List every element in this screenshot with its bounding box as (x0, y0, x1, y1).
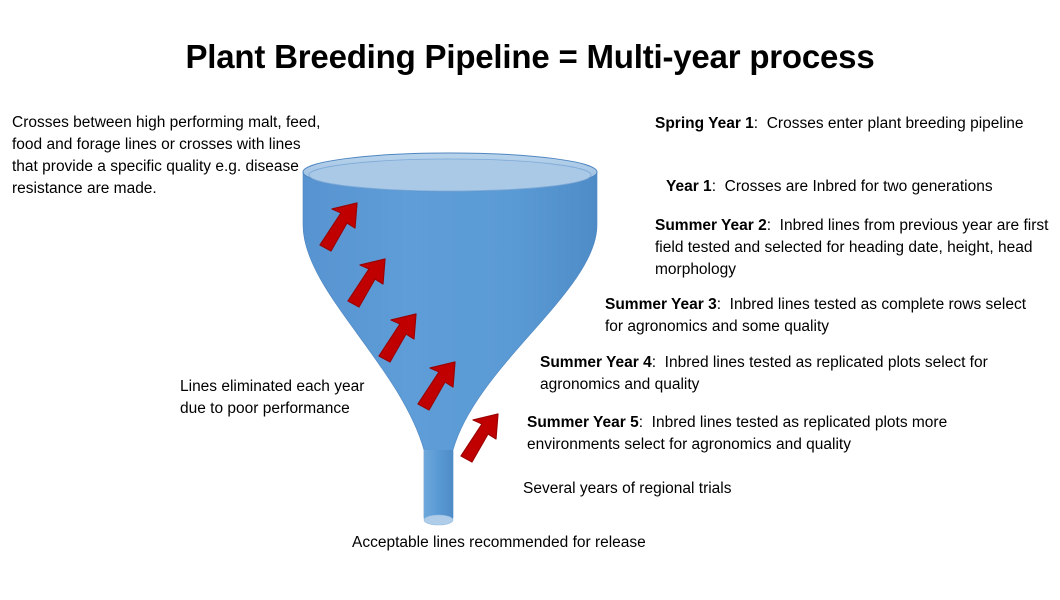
stage-text: Crosses are Inbred for two generations (725, 178, 993, 195)
funnel-spout-opening (424, 515, 453, 525)
stage-label: Summer Year 4 (540, 354, 652, 371)
page-title: Plant Breeding Pipeline = Multi-year pro… (0, 38, 1060, 76)
acceptable-lines-label: Acceptable lines recommended for release (352, 532, 652, 554)
stage-separator: : (712, 178, 716, 195)
stage-label: Year 1 (666, 178, 712, 195)
stage-text: Crosses enter plant breeding pipeline (767, 115, 1024, 132)
funnel-body (303, 172, 597, 520)
stage-label: Summer Year 2 (655, 217, 767, 234)
stage-separator: : (717, 296, 721, 313)
stage-label: Summer Year 5 (527, 414, 639, 431)
stage-label: Spring Year 1 (655, 115, 754, 132)
stage-summer-year-5: Summer Year 5: Inbred lines tested as re… (527, 412, 1017, 456)
lines-eliminated-label: Lines eliminated each year due to poor p… (180, 376, 370, 420)
elimination-arrow-5 (461, 414, 498, 462)
stage-label: Summer Year 3 (605, 296, 717, 313)
slide-canvas: Plant Breeding Pipeline = Multi-year pro… (0, 0, 1060, 600)
stage-summer-year-4: Summer Year 4: Inbred lines tested as re… (540, 352, 1010, 396)
crosses-description: Crosses between high performing malt, fe… (12, 112, 324, 200)
funnel-opening (309, 159, 591, 191)
stage-summer-year-2: Summer Year 2: Inbred lines from previou… (655, 215, 1055, 281)
stage-spring-year-1: Spring Year 1: Crosses enter plant breed… (655, 113, 1050, 135)
stage-separator: : (754, 115, 758, 132)
stage-separator: : (652, 354, 656, 371)
stage-summer-year-3: Summer Year 3: Inbred lines tested as co… (605, 294, 1045, 338)
stage-separator: : (639, 414, 643, 431)
stage-separator: : (767, 217, 771, 234)
stage-year-1: Year 1: Crosses are Inbred for two gener… (666, 176, 1056, 198)
several-years-label: Several years of regional trials (523, 478, 753, 500)
